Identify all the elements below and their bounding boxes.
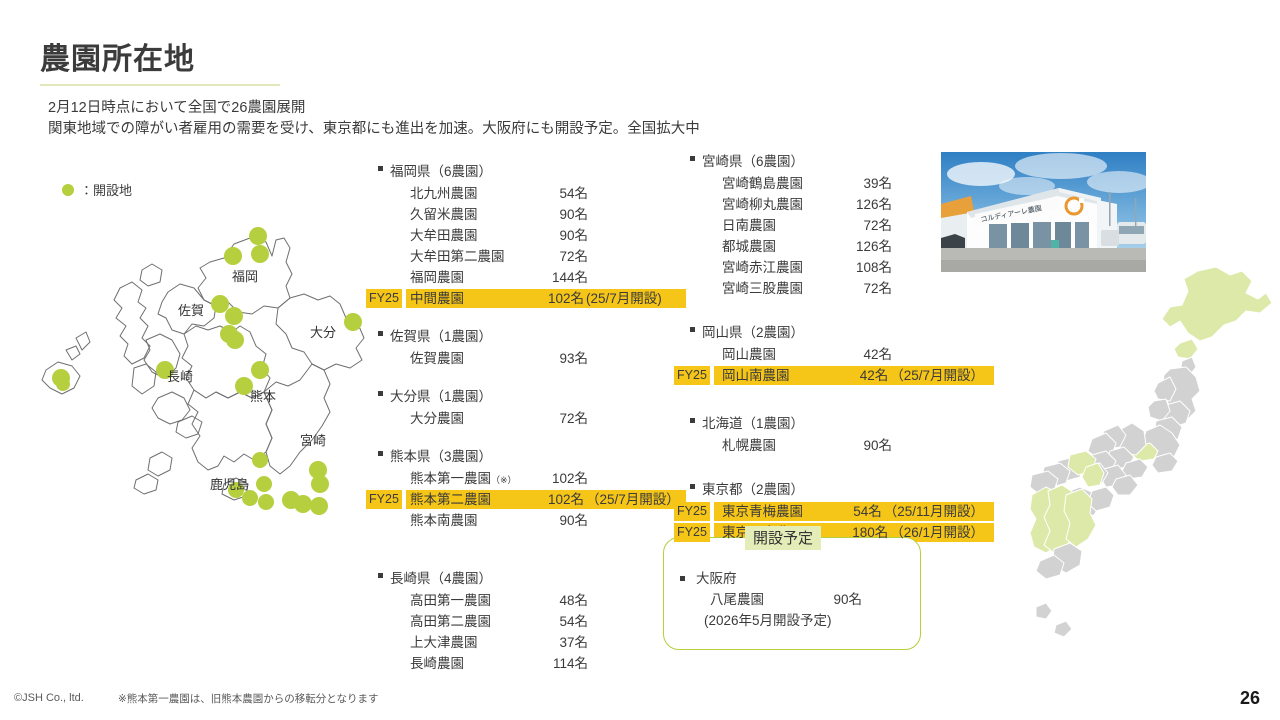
farm-row: 佐賀農園93名: [372, 348, 682, 369]
farm-row-highlighted: FY25中間農園102名(25/7月開設): [372, 288, 682, 309]
plan-box-title: 開設予定: [745, 526, 821, 550]
farm-name: 宮崎鶴島農園: [722, 173, 834, 194]
square-bullet-icon: [378, 451, 383, 456]
farm-headcount: 93名: [532, 348, 588, 369]
farm-row: 宮崎柳丸農園126名: [684, 194, 984, 215]
farm-name: 札幌農園: [722, 435, 834, 456]
farm-headcount: 90名: [834, 435, 892, 456]
square-bullet-icon: [690, 327, 695, 332]
prefecture-group: 大分県（1農園）大分農園72名: [372, 385, 682, 429]
farm-row: 都城農園126名: [684, 236, 984, 257]
farm-row: 高田第二農園54名: [372, 611, 682, 632]
fy25-badge: FY25: [366, 490, 402, 509]
farm-headcount: 72名: [834, 278, 892, 299]
farm-opening-note: （25/7月開設）: [888, 365, 984, 386]
footnote: ※熊本第一農園は、旧熊本農園からの移転分となります: [118, 691, 378, 706]
farm-headcount: 90名: [532, 204, 588, 225]
farm-row-highlighted: FY25岡山南農園42名（25/7月開設）: [684, 365, 984, 386]
farm-name: 高田第一農園: [410, 590, 532, 611]
kyushu-label-kagoshima: 鹿児島: [210, 474, 249, 493]
farm-list-right-column: 宮崎県（6農園）宮崎鶴島農園39名宮崎柳丸農園126名日南農園72名都城農園12…: [684, 150, 984, 543]
subtitle-line-1: 2月12日時点において全国で26農園展開: [48, 98, 700, 119]
farm-name-text: 熊本第一農園: [410, 471, 491, 486]
prefecture-name: 岡山県（2農園）: [684, 321, 984, 341]
farm-headcount: 126名: [834, 194, 892, 215]
plan-bullet-icon: [680, 576, 685, 581]
prefecture-group: 東京都（2農園）FY25東京青梅農園54名（25/11月開設）FY25東京足立農…: [684, 478, 984, 543]
farm-row: 熊本南農園90名: [372, 510, 682, 531]
farm-name: 宮崎三股農園: [722, 278, 834, 299]
farm-headcount: 90名: [532, 225, 588, 246]
farm-name: 久留米農園: [410, 204, 532, 225]
kyushu-label-miyazaki: 宮崎: [300, 430, 326, 449]
farm-headcount: 42名: [834, 344, 892, 365]
plan-farm-name: 八尾農園: [710, 589, 806, 610]
kyushu-label-saga: 佐賀: [178, 300, 204, 319]
farm-opening-note: （25/7月開設）: [584, 489, 680, 510]
prefecture-group: 福岡県（6農園）北九州農園54名久留米農園90名大牟田農園90名大牟田第二農園7…: [372, 160, 682, 309]
farm-name: 宮崎柳丸農園: [722, 194, 834, 215]
farm-headcount: 90名: [532, 510, 588, 531]
farm-opening-note: (25/7月開設): [584, 288, 662, 309]
farm-row: 北九州農園54名: [372, 183, 682, 204]
prefecture-group: 長崎県（4農園）高田第一農園48名高田第二農園54名上大津農園37名長崎農園11…: [372, 567, 682, 674]
farm-name: 高田第二農園: [410, 611, 532, 632]
farm-row: 宮崎鶴島農園39名: [684, 173, 984, 194]
prefecture-name: 宮崎県（6農園）: [684, 150, 984, 170]
farm-opening-note: （25/11月開設）: [882, 501, 984, 522]
square-bullet-icon: [378, 573, 383, 578]
farm-name: 佐賀農園: [410, 348, 532, 369]
plan-note: (2026年5月開設予定): [680, 610, 862, 631]
title-underline: [40, 84, 280, 86]
plan-farm-row: 八尾農園 90名: [680, 589, 862, 610]
copyright: ©JSH Co., ltd.: [14, 692, 84, 704]
farm-headcount: 108名: [834, 257, 892, 278]
farm-row: 高田第一農園48名: [372, 590, 682, 611]
farm-name: 大分農園: [410, 408, 532, 429]
farm-row: 宮崎赤江農園108名: [684, 257, 984, 278]
prefecture-name: 熊本県（3農園）: [372, 445, 682, 465]
farm-row: 上大津農園37名: [372, 632, 682, 653]
farm-name: 大牟田農園: [410, 225, 532, 246]
farm-row: 岡山農園42名: [684, 344, 984, 365]
farm-headcount: 54名: [532, 183, 588, 204]
farm-name: 大牟田第二農園: [410, 246, 532, 267]
farm-row: 大牟田農園90名: [372, 225, 682, 246]
farm-row: 熊本第一農園（※）102名: [372, 468, 682, 489]
farm-row: 長崎農園114名: [372, 653, 682, 674]
farm-name: 岡山農園: [722, 344, 834, 365]
farm-name: 長崎農園: [410, 653, 532, 674]
farm-name: 都城農園: [722, 236, 834, 257]
farm-row-highlighted: FY25東京足立農園180名（26/1月開設）: [684, 522, 984, 543]
farm-headcount: 126名: [834, 236, 892, 257]
subtitle-line-2: 関東地域での障がい者雇用の需要を受け、東京都にも進出を加速。大阪府にも開設予定。…: [48, 119, 700, 140]
farm-headcount: 48名: [532, 590, 588, 611]
page-number: 26: [1240, 688, 1260, 709]
farm-name: 福岡農園: [410, 267, 532, 288]
farm-headcount: 54名: [532, 611, 588, 632]
farm-name: 熊本第二農園: [410, 489, 532, 510]
prefecture-name: 大分県（1農園）: [372, 385, 682, 405]
farm-headcount: 39名: [834, 173, 892, 194]
farm-row: 福岡農園144名: [372, 267, 682, 288]
farm-name: 東京青梅農園: [722, 501, 827, 522]
kyushu-label-nagasaki: 長崎: [167, 366, 193, 385]
japan-map: [1030, 265, 1280, 665]
page-title: 農園所在地: [40, 34, 195, 78]
plan-box-body: 大阪府 八尾農園 90名 (2026年5月開設予定): [680, 568, 862, 631]
farm-name: 宮崎赤江農園: [722, 257, 834, 278]
farm-headcount: 102名: [532, 468, 588, 489]
subtitle: 2月12日時点において全国で26農園展開 関東地域での障がい者雇用の需要を受け、…: [48, 98, 700, 140]
farm-row: 日南農園72名: [684, 215, 984, 236]
square-bullet-icon: [690, 418, 695, 423]
farm-row: 札幌農園90名: [684, 435, 984, 456]
kyushu-label-oita: 大分: [310, 322, 336, 341]
square-bullet-icon: [378, 331, 383, 336]
kyushu-label-kumamoto: 熊本: [250, 386, 276, 405]
fy25-badge: FY25: [366, 289, 402, 308]
square-bullet-icon: [378, 391, 383, 396]
farm-headcount: 114名: [532, 653, 588, 674]
legend: ：開設地: [62, 180, 132, 199]
farm-name-annotation: （※）: [491, 475, 517, 485]
farm-row: 大牟田第二農園72名: [372, 246, 682, 267]
farm-row: 大分農園72名: [372, 408, 682, 429]
plan-farm-count: 90名: [806, 589, 862, 610]
square-bullet-icon: [690, 156, 695, 161]
fy25-badge: FY25: [674, 502, 710, 521]
farm-headcount: 180名: [832, 522, 889, 543]
farm-headcount: 42名: [832, 365, 889, 386]
farm-name: 岡山南農園: [722, 365, 832, 386]
plan-prefecture: 大阪府: [680, 568, 862, 589]
green-dot-icon: [62, 184, 74, 196]
farm-headcount: 54名: [827, 501, 882, 522]
prefecture-group: 佐賀県（1農園）佐賀農園93名: [372, 325, 682, 369]
farm-headcount: 102名: [532, 489, 584, 510]
prefecture-name: 東京都（2農園）: [684, 478, 984, 498]
prefecture-name: 長崎県（4農園）: [372, 567, 682, 587]
prefecture-group: 北海道（1農園）札幌農園90名: [684, 412, 984, 456]
farm-name: 上大津農園: [410, 632, 532, 653]
prefecture-name: 北海道（1農園）: [684, 412, 984, 432]
prefecture-name: 佐賀県（1農園）: [372, 325, 682, 345]
farm-name: 日南農園: [722, 215, 834, 236]
prefecture-name: 福岡県（6農園）: [372, 160, 682, 180]
farm-headcount: 72名: [834, 215, 892, 236]
square-bullet-icon: [378, 166, 383, 171]
prefecture-group: 熊本県（3農園）熊本第一農園（※）102名FY25熊本第二農園102名（25/7…: [372, 445, 682, 531]
square-bullet-icon: [690, 484, 695, 489]
legend-label: ：開設地: [80, 180, 132, 199]
farm-name: 熊本第一農園（※）: [410, 468, 532, 491]
farm-name: 熊本南農園: [410, 510, 532, 531]
prefecture-group: 宮崎県（6農園）宮崎鶴島農園39名宮崎柳丸農園126名日南農園72名都城農園12…: [684, 150, 984, 299]
fy25-badge: FY25: [674, 523, 710, 542]
kyushu-label-fukuoka: 福岡: [232, 266, 258, 285]
farm-row-highlighted: FY25熊本第二農園102名（25/7月開設）: [372, 489, 682, 510]
farm-headcount: 37名: [532, 632, 588, 653]
farm-name: 北九州農園: [410, 183, 532, 204]
farm-row: 久留米農園90名: [372, 204, 682, 225]
farm-headcount: 72名: [532, 246, 588, 267]
fy25-badge: FY25: [674, 366, 710, 385]
prefecture-group: 岡山県（2農園）岡山農園42名FY25岡山南農園42名（25/7月開設）: [684, 321, 984, 386]
farm-row: 宮崎三股農園72名: [684, 278, 984, 299]
farm-headcount: 144名: [532, 267, 588, 288]
farm-opening-note: （26/1月開設）: [888, 522, 984, 543]
kyushu-map: 福岡 佐賀 大分 長崎 熊本 宮崎 鹿児島: [28, 222, 398, 522]
farm-row-highlighted: FY25東京青梅農園54名（25/11月開設）: [684, 501, 984, 522]
farm-list-left-column: 福岡県（6農園）北九州農園54名久留米農園90名大牟田農園90名大牟田第二農園7…: [372, 160, 682, 674]
farm-name: 中間農園: [410, 288, 532, 309]
slide: 農園所在地 2月12日時点において全国で26農園展開 関東地域での障がい者雇用の…: [0, 0, 1280, 720]
farm-headcount: 102名: [532, 288, 584, 309]
farm-headcount: 72名: [532, 408, 588, 429]
